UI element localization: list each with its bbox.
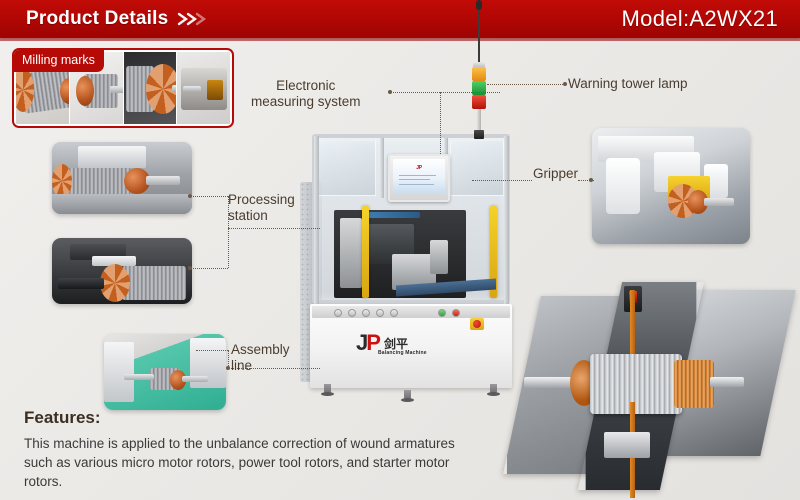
- callout-warning-tower-lamp: Warning tower lamp: [568, 76, 688, 92]
- leader-ems-horizontal: [390, 92, 500, 93]
- leader-ems-dot: [388, 90, 392, 94]
- safety-light-curtain-left: [362, 206, 369, 298]
- milling-marks-tag: Milling marks: [13, 49, 104, 72]
- leader-grip-dot: [589, 178, 593, 182]
- callout-assembly-line: Assembly line: [231, 342, 290, 373]
- leader-ems-vertical: [440, 92, 441, 154]
- header-left-group: Product Details: [0, 8, 210, 30]
- rotor-laminations: [590, 354, 682, 414]
- armature-commutator-machining: [52, 238, 192, 304]
- leader-proc-dot2: [188, 266, 192, 270]
- callout-processing-station: Processing station: [228, 192, 295, 223]
- slide-canvas: Product Details Model:A2WX21: [0, 0, 800, 500]
- milling-marks-panel: Milling marks: [12, 48, 234, 128]
- armature-on-milling-table: [52, 142, 192, 214]
- hmi-monitor: JP: [388, 154, 450, 202]
- warning-tower-lamp: [470, 62, 488, 140]
- leader-proc-dot: [188, 194, 192, 198]
- header-underline: [0, 38, 800, 41]
- antenna-rod: [478, 0, 480, 62]
- armature-cutaway-section: [177, 52, 230, 124]
- rotor-commutator: [674, 360, 714, 408]
- rotor-machining-triptych: [512, 282, 788, 492]
- jp-brand-logo: J P 剑平 Balancing Machine: [356, 334, 408, 351]
- callout-gripper: Gripper: [533, 166, 578, 182]
- leader-proc-horizontal3: [190, 268, 228, 269]
- white-gripper-holding-armature: [592, 128, 750, 244]
- leader-warn-horizontal: [487, 84, 565, 85]
- monitor-logo: JP: [416, 165, 422, 171]
- features-body: This machine is applied to the unbalance…: [24, 434, 464, 491]
- leader-proc-horizontal2: [228, 228, 320, 229]
- leader-assy-dot: [226, 366, 230, 370]
- callout-electronic-measuring-system: Electronic measuring system: [251, 78, 361, 109]
- features-title: Features:: [24, 408, 101, 428]
- page-title: Product Details: [26, 8, 168, 30]
- leader-grip-horizontal: [472, 180, 532, 181]
- logo-letter-p: P: [366, 334, 381, 351]
- lamp-segment-amber: [472, 67, 486, 81]
- lamp-segment-red: [472, 95, 486, 109]
- model-number: Model:A2WX21: [622, 6, 800, 32]
- emergency-stop-button[interactable]: [470, 318, 484, 330]
- leader-proc-vertical2: [228, 228, 229, 268]
- leader-assy-horizontal2: [196, 350, 228, 351]
- header-bar: Product Details Model:A2WX21: [0, 0, 800, 38]
- armature-on-green-conveyor: [104, 334, 226, 410]
- balancing-machine-photo: JP J P 剑平 Balancin: [300, 122, 522, 404]
- armature-windings-dark-bg: [124, 52, 177, 124]
- leader-warn-dot: [563, 82, 567, 86]
- leader-proc-horizontal: [190, 196, 228, 197]
- logo-tagline: Balancing Machine: [378, 350, 427, 356]
- double-chevron-right-icon: [176, 11, 210, 27]
